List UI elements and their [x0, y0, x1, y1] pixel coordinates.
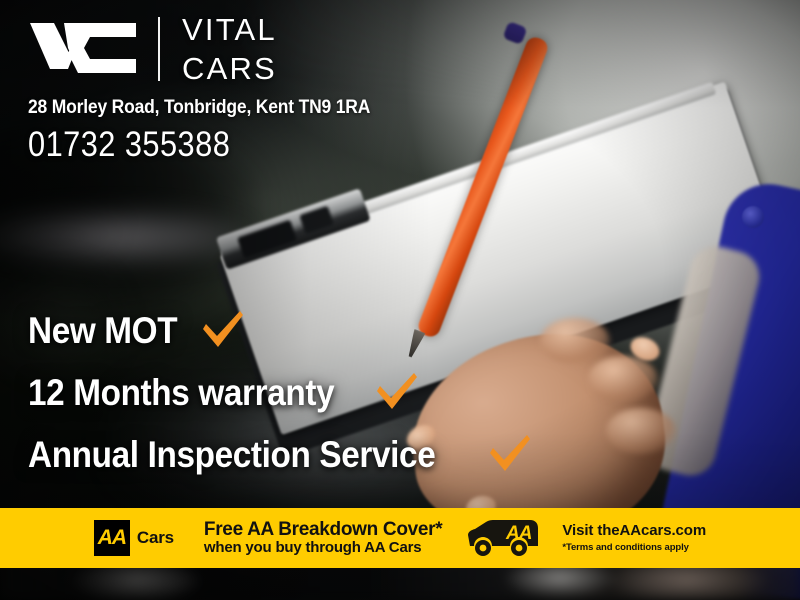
svg-text:AA: AA	[505, 523, 532, 544]
contact-details: 28 Morley Road, Tonbridge, Kent TN9 1RA …	[28, 97, 400, 165]
logo-divider	[158, 17, 160, 81]
brand-logo[interactable]: VITAL CARS	[28, 14, 277, 84]
aa-offer-subline: when you buy through AA Cars	[204, 540, 442, 557]
orange-check-icon	[374, 372, 420, 414]
feature-item: New MOT	[28, 300, 533, 362]
aa-breakdown-banner[interactable]: AA Cars Free AA Breakdown Cover* when yo…	[0, 508, 800, 568]
aa-cars-word: Cars	[137, 528, 174, 548]
orange-check-icon	[487, 434, 533, 476]
brand-wordmark: VITAL CARS	[182, 14, 277, 84]
aa-van-icon: AA	[464, 518, 542, 558]
phone-number[interactable]: 01732 355388	[28, 125, 355, 165]
feature-item: Annual Inspection Service	[28, 424, 533, 486]
aa-cars-logo: AA Cars	[94, 520, 174, 556]
sleeve-button	[742, 206, 764, 228]
orange-check-icon	[200, 310, 246, 352]
brand-name-line1: VITAL	[182, 14, 277, 45]
aa-badge-icon: AA	[94, 520, 130, 556]
feature-label: Annual Inspection Service	[28, 434, 435, 476]
hand-knuckle	[588, 356, 658, 402]
feature-item: 12 Months warranty	[28, 362, 533, 424]
aa-visit-link[interactable]: Visit theAAcars.com	[562, 522, 706, 540]
advert-banner: VITAL CARS 28 Morley Road, Tonbridge, Ke…	[0, 0, 800, 600]
brand-name-line2: CARS	[182, 53, 277, 84]
aa-offer-text: Free AA Breakdown Cover* when you buy th…	[204, 519, 442, 557]
aa-visit-block[interactable]: Visit theAAcars.com *Terms and condition…	[562, 522, 706, 553]
hand-knuckle	[540, 318, 610, 364]
address-text: 28 Morley Road, Tonbridge, Kent TN9 1RA	[28, 97, 370, 119]
aa-badge-text: AA	[98, 526, 126, 550]
hand-knuckle	[606, 408, 676, 454]
vc-monogram-icon	[28, 17, 148, 81]
feature-list: New MOT 12 Months warranty Annual Inspec…	[28, 300, 533, 486]
aa-terms-text: *Terms and conditions apply	[562, 542, 706, 553]
feature-label: New MOT	[28, 310, 177, 352]
aa-offer-headline: Free AA Breakdown Cover*	[204, 519, 442, 540]
feature-label: 12 Months warranty	[28, 372, 334, 414]
